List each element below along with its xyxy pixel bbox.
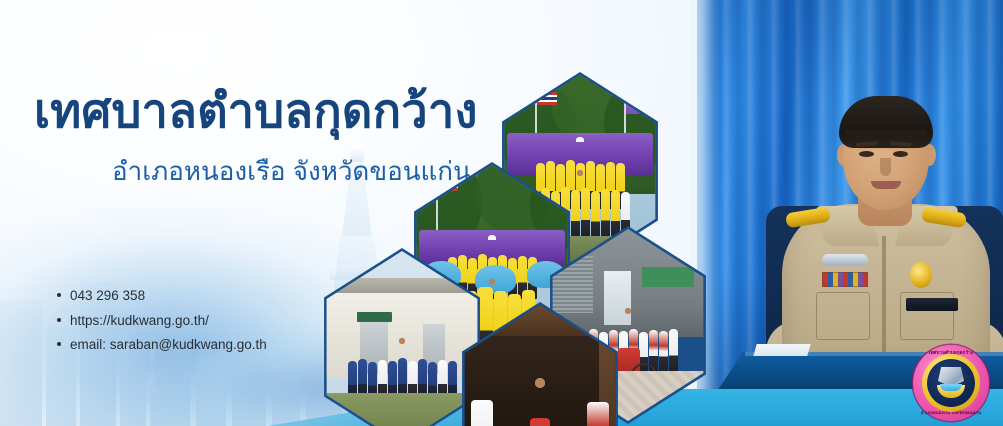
contact-email-text[interactable]: email: saraban@kudkwang.go.th: [70, 338, 267, 352]
mouth: [871, 181, 901, 189]
name-tag: [906, 298, 958, 311]
bullet-dot-icon: [57, 293, 61, 297]
bullet-dot-icon: [57, 318, 61, 322]
contact-list: 043 296 358 https://kudkwang.go.th/ emai…: [57, 289, 267, 363]
medal-icon: [910, 262, 932, 288]
desk-paper: [753, 344, 810, 356]
municipality-seal[interactable]: เทศบาลตำบลกุดกว้าง อำเภอหนองเรือ จังหวัด…: [913, 345, 989, 421]
bullet-dot-icon: [57, 342, 61, 346]
eye-right: [893, 151, 908, 157]
seal-emblem-core: [927, 359, 975, 407]
municipality-banner: เทศบาลตำบลกุดกว้าง อำเภอหนองเรือ จังหวัด…: [0, 0, 1003, 426]
contact-website-text[interactable]: https://kudkwang.go.th/: [70, 314, 209, 328]
hair: [839, 96, 933, 148]
nose: [880, 158, 891, 176]
ribbon-bar-icon: [822, 272, 868, 287]
wing-badge-icon: [822, 254, 868, 266]
water-icon: [940, 384, 962, 391]
contact-item-phone: 043 296 358: [57, 289, 267, 303]
pocket-left: [816, 292, 870, 340]
contact-phone-text: 043 296 358: [70, 289, 145, 303]
hexagon-photo-collage: [330, 78, 750, 400]
official-portrait: [760, 86, 1003, 376]
contact-item-website[interactable]: https://kudkwang.go.th/: [57, 314, 267, 328]
eye-left: [859, 151, 874, 157]
contact-item-email[interactable]: email: saraban@kudkwang.go.th: [57, 338, 267, 352]
